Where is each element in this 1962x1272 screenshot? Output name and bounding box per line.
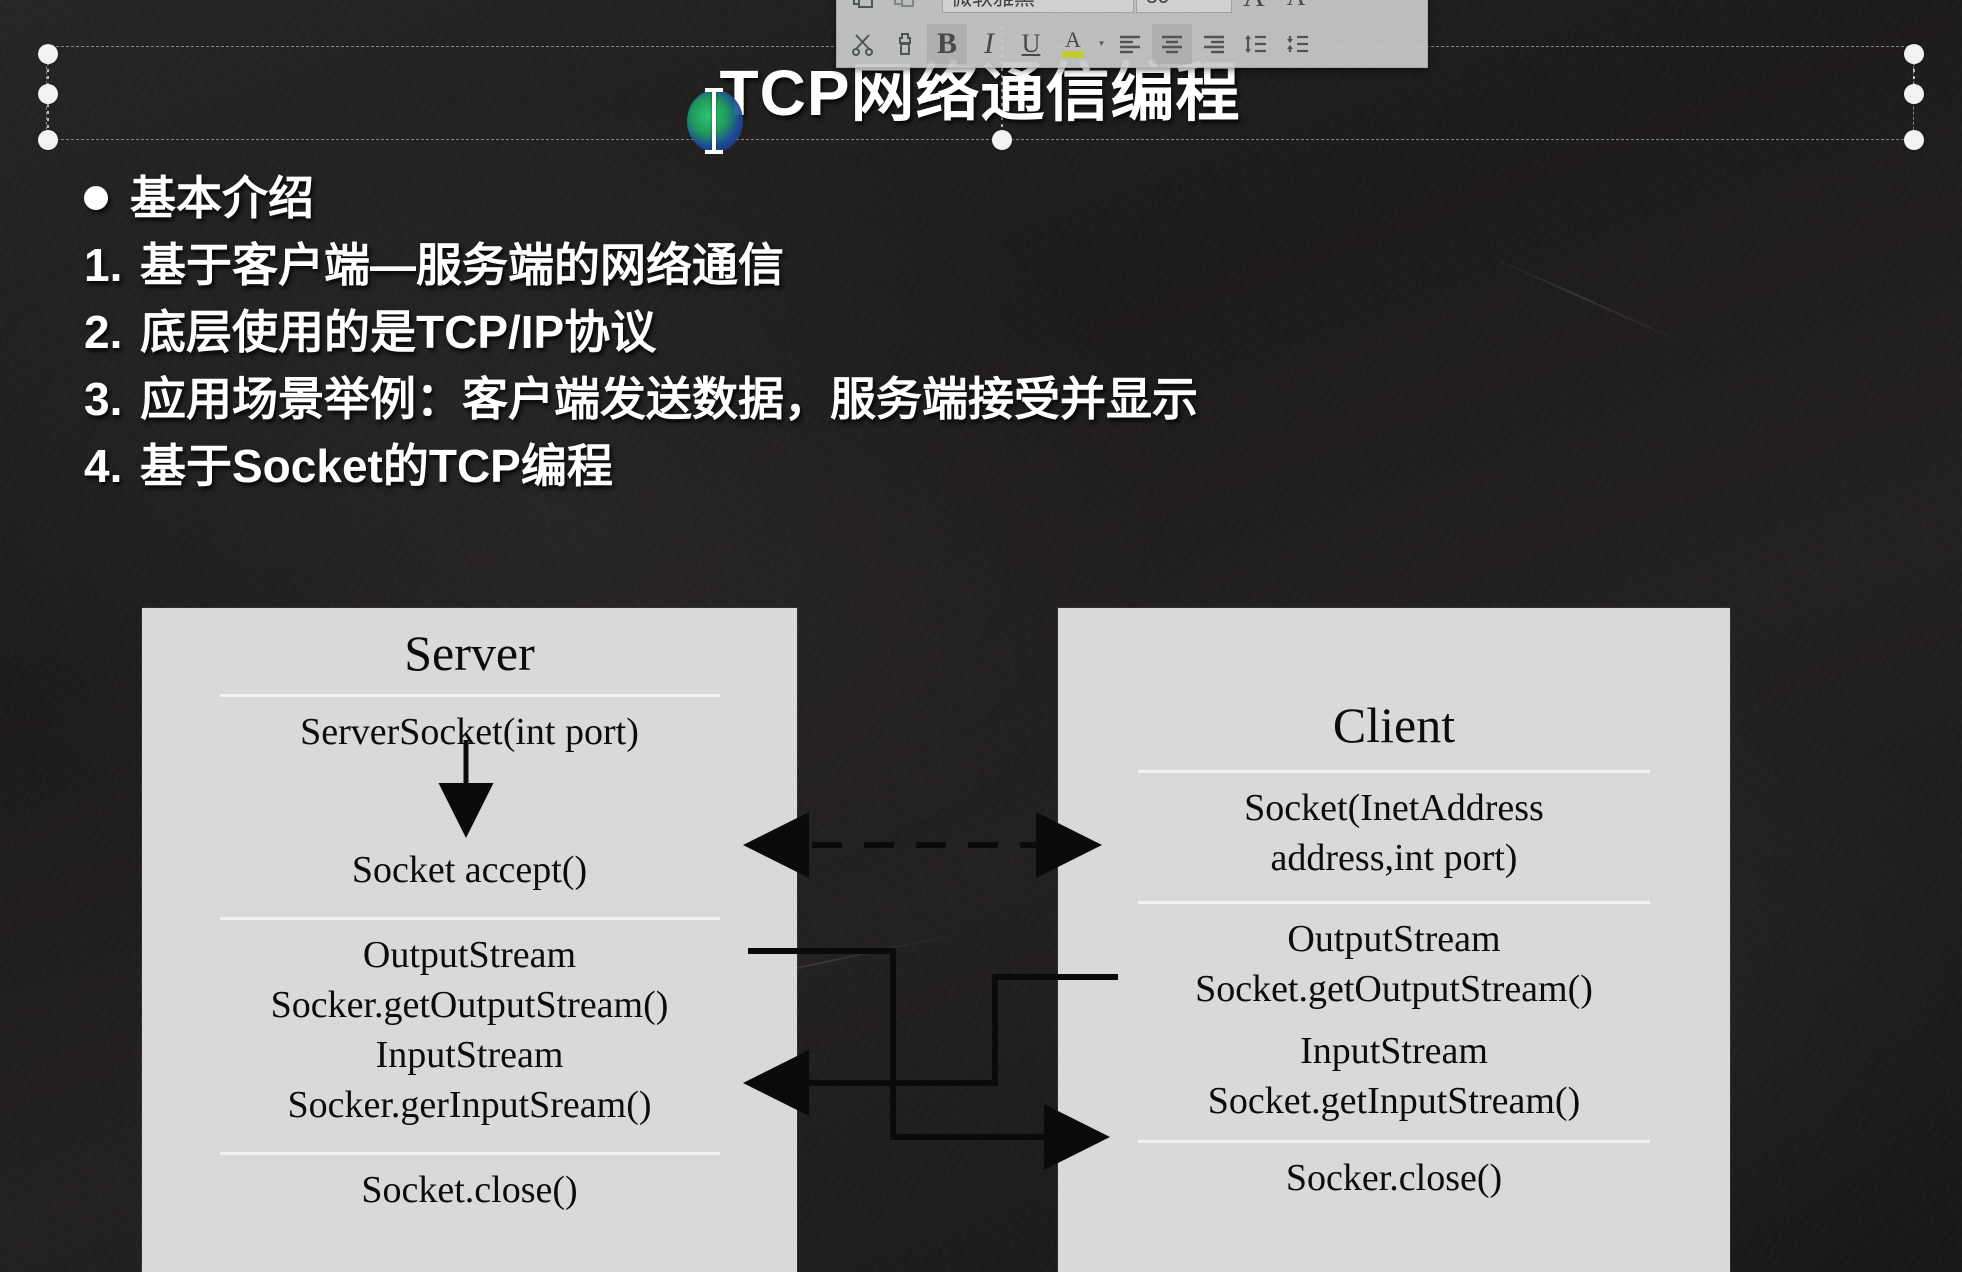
list-item-label: 基于客户端—服务端的网络通信: [140, 232, 784, 299]
divider: [220, 694, 720, 697]
cut-icon[interactable]: [843, 24, 883, 64]
font-name-combo[interactable]: 微软雅黑 ▾: [942, 0, 1134, 13]
client-panel[interactable]: Client Socket(InetAddress address,int po…: [1058, 608, 1730, 1272]
client-row: Socket(InetAddress: [1058, 783, 1730, 833]
list-item-label: 基于Socket的TCP编程: [140, 433, 613, 500]
divider: [1138, 770, 1650, 773]
list-item-number: 2.: [84, 299, 140, 366]
list-item-label: 应用场景举例：客户端发送数据，服务端接受并显示: [140, 366, 1198, 433]
chevron-down-icon[interactable]: ▾: [1121, 0, 1126, 2]
selection-handle-middle-left[interactable]: [38, 84, 58, 104]
server-row: Socket accept(): [142, 845, 797, 895]
divider: [220, 1152, 720, 1155]
client-title: Client: [1058, 694, 1730, 756]
bullet-dot-icon: [84, 186, 108, 210]
client-row: OutputStream: [1058, 914, 1730, 964]
paragraph-spacing-button[interactable]: [1278, 24, 1318, 64]
paste-icon[interactable]: [843, 0, 883, 17]
divider: [1138, 901, 1650, 904]
list-item[interactable]: 1. 基于客户端—服务端的网络通信: [84, 232, 1584, 299]
client-row: InputStream: [1058, 1026, 1730, 1076]
i-beam-icon: [712, 88, 716, 154]
client-row: Socket.getOutputStream(): [1058, 964, 1730, 1014]
italic-button[interactable]: I: [969, 24, 1009, 64]
list-item[interactable]: 3. 应用场景举例：客户端发送数据，服务端接受并显示: [84, 366, 1584, 433]
list-item-number: 1.: [84, 232, 140, 299]
selection-handle-bottom-center[interactable]: [992, 130, 1012, 150]
server-panel[interactable]: Server ServerSocket(int port) Socket acc…: [142, 608, 797, 1272]
underline-button[interactable]: U: [1011, 24, 1051, 64]
slide-body: 基本介绍 1. 基于客户端—服务端的网络通信 2. 底层使用的是TCP/IP协议…: [84, 166, 1584, 500]
font-size-value: 30: [1146, 0, 1169, 9]
slide-canvas[interactable]: TCP网络通信编程 基本介绍 1. 基于客户端—服务端的网络通信 2. 底层使用…: [0, 0, 1962, 1272]
bullet-heading[interactable]: 基本介绍: [84, 166, 1584, 230]
font-color-button[interactable]: A: [1053, 24, 1093, 64]
server-row: Socker.gerInputSream(): [142, 1080, 797, 1130]
server-row: InputStream: [142, 1030, 797, 1080]
client-row: Socker.close(): [1058, 1153, 1730, 1203]
client-row: Socket.getInputStream(): [1058, 1076, 1730, 1126]
align-left-button[interactable]: [1110, 24, 1150, 64]
list-item-label: 底层使用的是TCP/IP协议: [140, 299, 656, 366]
toolbar-row-1: ▾ 微软雅黑 ▾ 30 ▾ A A: [837, 0, 1427, 20]
selection-handle-top-right[interactable]: [1904, 44, 1924, 64]
toolbar-row-2: B I U A ▾: [837, 20, 1427, 67]
bold-button[interactable]: B: [927, 24, 967, 64]
font-color-caret-icon[interactable]: ▾: [1095, 24, 1108, 64]
chevron-down-icon[interactable]: ▾: [1219, 0, 1224, 2]
selection-handle-bottom-right[interactable]: [1904, 130, 1924, 150]
copy-dropdown-caret-icon[interactable]: ▾: [927, 0, 940, 17]
copy-icon[interactable]: [885, 0, 925, 17]
format-painter-icon[interactable]: [885, 24, 925, 64]
client-row: address,int port): [1058, 833, 1730, 883]
font-color-swatch: [1062, 51, 1084, 58]
decrease-font-size-icon[interactable]: A: [1276, 0, 1316, 17]
divider: [1138, 1140, 1650, 1143]
server-row: ServerSocket(int port): [142, 707, 797, 757]
server-row: OutputStream: [142, 930, 797, 980]
server-row: Socket.close(): [142, 1165, 797, 1215]
selection-handle-bottom-left[interactable]: [38, 130, 58, 150]
floating-format-toolbar[interactable]: ▾ 微软雅黑 ▾ 30 ▾ A A: [836, 0, 1428, 68]
server-title: Server: [142, 622, 797, 684]
font-size-combo[interactable]: 30 ▾: [1136, 0, 1232, 13]
list-item[interactable]: 4. 基于Socket的TCP编程: [84, 433, 1584, 500]
selection-handle-middle-right[interactable]: [1904, 84, 1924, 104]
bullet-heading-label: 基本介绍: [130, 166, 314, 230]
divider: [220, 917, 720, 920]
increase-font-size-icon[interactable]: A: [1234, 0, 1274, 17]
align-center-button[interactable]: [1152, 24, 1192, 64]
font-color-letter: A: [1065, 30, 1081, 50]
selection-handle-top-left[interactable]: [38, 44, 58, 64]
list-item[interactable]: 2. 底层使用的是TCP/IP协议: [84, 299, 1584, 366]
server-row: Socker.getOutputStream(): [142, 980, 797, 1030]
list-item-number: 3.: [84, 366, 140, 433]
list-item-number: 4.: [84, 433, 140, 500]
font-name-value: 微软雅黑: [951, 0, 1035, 12]
text-edit-cursor: [687, 90, 743, 152]
line-spacing-button[interactable]: [1236, 24, 1276, 64]
align-right-button[interactable]: [1194, 24, 1234, 64]
